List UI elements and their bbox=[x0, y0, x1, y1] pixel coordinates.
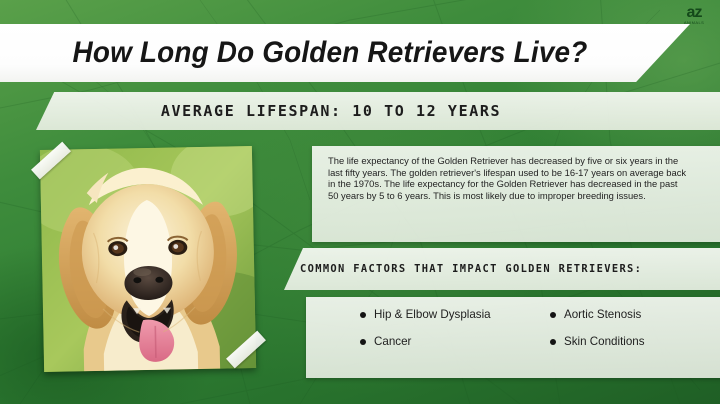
bullet-dot-icon bbox=[550, 339, 556, 345]
list-item: Aortic Stenosis bbox=[550, 308, 720, 321]
description-text: The life expectancy of the Golden Retrie… bbox=[328, 155, 688, 201]
photo-frame bbox=[42, 148, 254, 370]
logo-subtext: ANIMALS bbox=[684, 20, 704, 25]
list-item: Hip & Elbow Dysplasia bbox=[360, 308, 542, 321]
logo-az-text: az bbox=[687, 6, 702, 20]
list-item-label: Skin Conditions bbox=[564, 335, 645, 348]
lifespan-subtitle: AVERAGE LIFESPAN: 10 TO 12 YEARS bbox=[36, 92, 626, 130]
list-item-label: Cancer bbox=[374, 335, 411, 348]
factors-heading: COMMON FACTORS THAT IMPACT GOLDEN RETRIE… bbox=[300, 248, 720, 290]
factors-list: Hip & Elbow Dysplasia Aortic Stenosis Ca… bbox=[306, 297, 720, 378]
golden-retriever-photo bbox=[40, 146, 256, 372]
bullet-dot-icon bbox=[360, 312, 366, 318]
list-item-label: Hip & Elbow Dysplasia bbox=[374, 308, 491, 321]
list-item: Skin Conditions bbox=[550, 335, 720, 348]
list-item: Cancer bbox=[360, 335, 542, 348]
list-item-label: Aortic Stenosis bbox=[564, 308, 641, 321]
bullet-dot-icon bbox=[360, 339, 366, 345]
infographic-canvas: az ANIMALS How Long Do Golden Retrievers… bbox=[0, 0, 720, 404]
bullet-dot-icon bbox=[550, 312, 556, 318]
page-title: How Long Do Golden Retrievers Live? bbox=[23, 24, 637, 82]
